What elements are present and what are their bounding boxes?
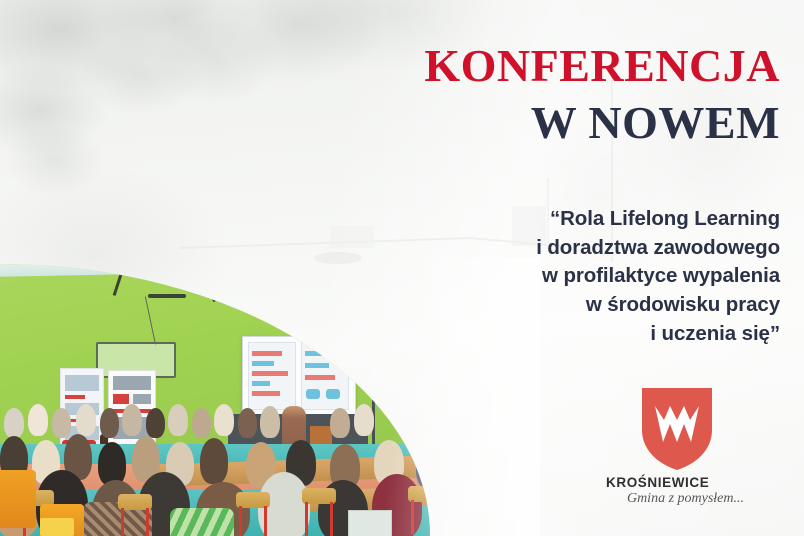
ceiling-lamp-icon <box>172 260 214 271</box>
audience-person <box>404 406 425 438</box>
audience-person <box>260 406 280 438</box>
audience-person <box>498 444 528 490</box>
audience-person <box>200 438 228 484</box>
audience-person <box>238 408 257 438</box>
audience-person <box>122 404 142 436</box>
audience-person <box>28 404 48 436</box>
audience-person <box>168 404 188 436</box>
poster-quote: “Rola Lifelong Learning i doradztwa zawo… <box>300 205 780 348</box>
audience-person <box>354 404 374 436</box>
quote-line-4: w środowisku pracy <box>300 291 780 320</box>
chair <box>408 486 442 534</box>
wall-bar <box>148 294 186 298</box>
chair <box>0 470 36 528</box>
tote-bag <box>348 510 392 536</box>
audience-person <box>4 408 24 438</box>
audience-person <box>146 408 165 438</box>
poster-headline: KONFERENCJA W NOWEM <box>220 43 780 147</box>
quote-line-3: w profilaktyce wypalenia <box>300 262 780 291</box>
logo-tagline: Gmina z pomysłem... <box>602 491 752 507</box>
audience-person <box>192 408 211 438</box>
audience-person <box>416 444 446 490</box>
audience-person <box>484 402 506 436</box>
shield-icon <box>602 386 752 472</box>
logo-municipality-name: KROŚNIEWICE <box>602 475 752 490</box>
krosniewice-logo: KROŚNIEWICE Gmina z pomysłem... <box>602 386 752 507</box>
headline-line-1: KONFERENCJA <box>220 43 780 90</box>
chair <box>118 494 152 536</box>
chair <box>470 490 504 536</box>
audience-person <box>430 480 478 536</box>
quote-line-5: i uczenia się” <box>300 320 780 349</box>
audience-person <box>458 406 479 438</box>
audience-garment <box>170 508 234 536</box>
tote-bag <box>40 518 74 536</box>
audience-person <box>430 402 452 436</box>
chair <box>236 492 270 536</box>
audience-person <box>76 404 96 436</box>
headline-line-2: W NOWEM <box>220 100 780 147</box>
audience-person <box>458 440 488 488</box>
audience-person <box>100 408 119 438</box>
quote-line-1: “Rola Lifelong Learning <box>300 205 780 234</box>
quote-line-2: i doradztwa zawodowego <box>300 234 780 263</box>
flipchart <box>396 362 442 416</box>
audience-person <box>330 408 350 438</box>
conference-poster: KONFERENCJA W NOWEM “Rola Lifelong Learn… <box>0 0 804 536</box>
audience-person <box>214 404 234 436</box>
chair <box>302 488 336 536</box>
audience-person <box>52 408 71 438</box>
